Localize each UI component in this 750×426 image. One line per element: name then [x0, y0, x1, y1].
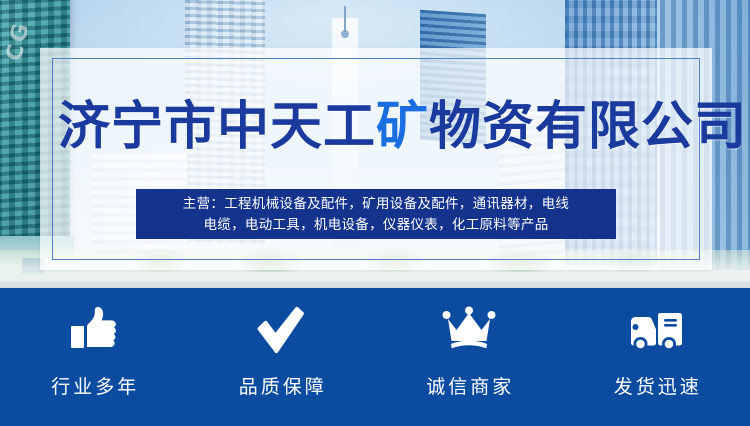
feature-item-quality: 品质保障	[188, 288, 376, 426]
antenna-knob	[341, 30, 349, 38]
feature-band: 行业多年 品质保障	[0, 288, 750, 426]
thumbs-up-icon	[65, 302, 123, 358]
company-title-highlight: 矿	[376, 97, 429, 157]
promo-banner: CG 济宁市中天工矿物资有限公司 主营：工程机械设备及配件，矿用设备及配件，通讯…	[0, 0, 750, 426]
crown-icon	[440, 302, 498, 358]
feature-label: 发货迅速	[611, 372, 702, 399]
business-scope-bar: 主营：工程机械设备及配件，矿用设备及配件，通讯器材，电线 电缆，电动工具，机电设…	[136, 189, 616, 239]
company-title: 济宁市中天工矿物资有限公司	[58, 96, 698, 158]
company-title-suffix: 物资有限公司	[429, 97, 747, 157]
company-title-prefix: 济宁市中天工	[58, 97, 376, 157]
check-mark-icon	[252, 302, 310, 358]
feature-item-integrity: 诚信商家	[375, 288, 563, 426]
delivery-truck-icon	[627, 302, 685, 358]
business-scope-line-1: 主营：工程机械设备及配件，矿用设备及配件，通讯器材，电线	[148, 194, 604, 215]
business-scope-line-2: 电缆，电动工具，机电设备，仪器仪表，化工原料等产品	[148, 215, 604, 236]
feature-item-shipping: 发货迅速	[563, 288, 750, 426]
antenna-spire	[344, 6, 346, 32]
feature-item-experience: 行业多年	[0, 288, 188, 426]
feature-label: 行业多年	[48, 372, 139, 399]
feature-list: 行业多年 品质保障	[0, 288, 750, 426]
feature-label: 品质保障	[236, 372, 327, 399]
feature-label: 诚信商家	[423, 372, 514, 399]
